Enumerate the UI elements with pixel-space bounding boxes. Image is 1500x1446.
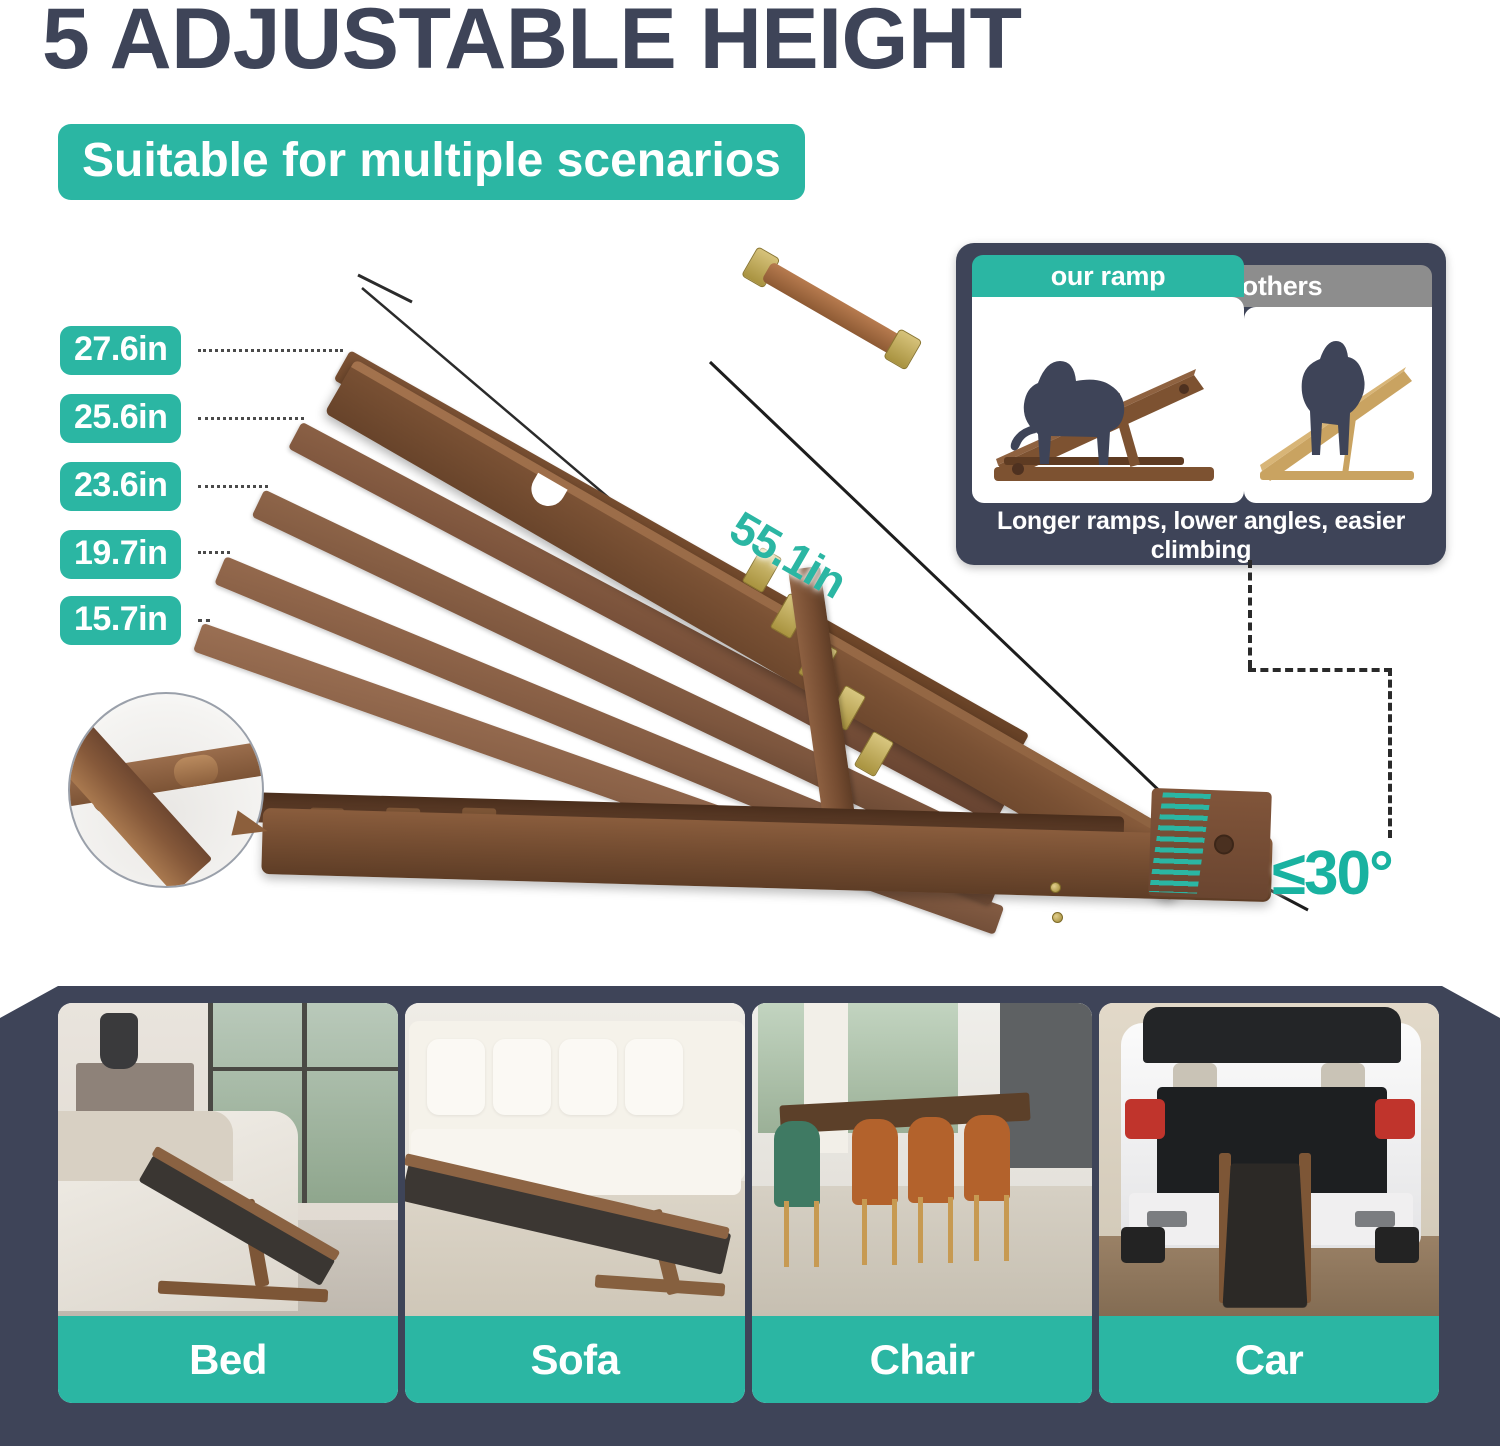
cushion xyxy=(559,1039,617,1115)
exhaust-pipe xyxy=(1355,1211,1395,1227)
dining-room-scene xyxy=(752,1003,1092,1316)
lamp xyxy=(100,1013,138,1069)
comparison-card: others our ramp Longer ramps, lower angl… xyxy=(956,243,1446,565)
cushion xyxy=(427,1039,485,1115)
scenario-card-chair[interactable]: Chair xyxy=(752,1003,1092,1403)
scenario-card-bed[interactable]: Bed xyxy=(58,1003,398,1403)
our-ramp-illustration xyxy=(972,297,1244,503)
scenario-card-car[interactable]: Car xyxy=(1099,1003,1439,1403)
scenario-photo-car xyxy=(1099,1003,1439,1316)
scenario-label-chair: Chair xyxy=(752,1316,1092,1403)
tab-our-ramp[interactable]: our ramp xyxy=(972,255,1244,297)
hinge-detail-zoom-circle xyxy=(68,692,264,888)
connector-segment-vertical-2 xyxy=(1388,668,1392,838)
chair-leg xyxy=(814,1201,819,1267)
dining-chair xyxy=(774,1121,820,1207)
scenario-photo-sofa xyxy=(405,1003,745,1316)
scenario-label-bed: Bed xyxy=(58,1316,398,1403)
others-ramp-illustration xyxy=(1244,307,1432,503)
garage-scene xyxy=(1099,1003,1439,1316)
base-screw-icon xyxy=(1052,912,1063,923)
connector-segment-vertical-1 xyxy=(1248,560,1252,668)
taillight xyxy=(1375,1099,1415,1139)
panel-others xyxy=(1244,307,1432,503)
cushion xyxy=(493,1039,551,1115)
height-label-1: 27.6in xyxy=(60,326,181,375)
dining-chair xyxy=(964,1115,1010,1201)
comparison-caption: Longer ramps, lower angles, easier climb… xyxy=(956,507,1446,565)
window-mullion xyxy=(208,1067,398,1071)
height-label-4: 19.7in xyxy=(60,530,181,579)
car-tire xyxy=(1375,1227,1419,1263)
cushion xyxy=(625,1039,683,1115)
bedroom-scene xyxy=(58,1003,398,1316)
car-hatch xyxy=(1143,1007,1401,1063)
height-label-5: 15.7in xyxy=(60,596,181,645)
panel-our-ramp xyxy=(972,297,1244,503)
scenario-label-sofa: Sofa xyxy=(405,1316,745,1403)
scenario-photo-chair xyxy=(752,1003,1092,1316)
chair-leg xyxy=(948,1197,953,1263)
hinge-rail xyxy=(750,550,1010,830)
height-label-3: 23.6in xyxy=(60,462,181,511)
chair-leg xyxy=(974,1195,979,1261)
exhaust-pipe xyxy=(1147,1211,1187,1227)
dining-chair xyxy=(852,1119,898,1205)
scenario-card-sofa[interactable]: Sofa xyxy=(405,1003,745,1403)
hinge-icon xyxy=(854,731,895,778)
living-room-scene xyxy=(405,1003,745,1316)
chair-leg xyxy=(862,1199,867,1265)
cabinet xyxy=(1000,1003,1092,1168)
base-screw-icon xyxy=(1050,882,1061,893)
scenario-photo-bed xyxy=(58,1003,398,1316)
taillight xyxy=(1125,1099,1165,1139)
scenario-label-car: Car xyxy=(1099,1316,1439,1403)
connector-segment-horizontal xyxy=(1248,668,1392,672)
dining-chair xyxy=(908,1117,954,1203)
car-tire xyxy=(1121,1227,1165,1263)
window-mullion xyxy=(302,1003,307,1203)
height-label-2: 25.6in xyxy=(60,394,181,443)
chair-leg xyxy=(892,1199,897,1265)
chair-leg xyxy=(1004,1195,1009,1261)
connector-elbow xyxy=(1180,560,1440,860)
ramp-surface xyxy=(1223,1163,1308,1307)
chair-leg xyxy=(784,1201,789,1267)
chair-leg xyxy=(918,1197,923,1263)
